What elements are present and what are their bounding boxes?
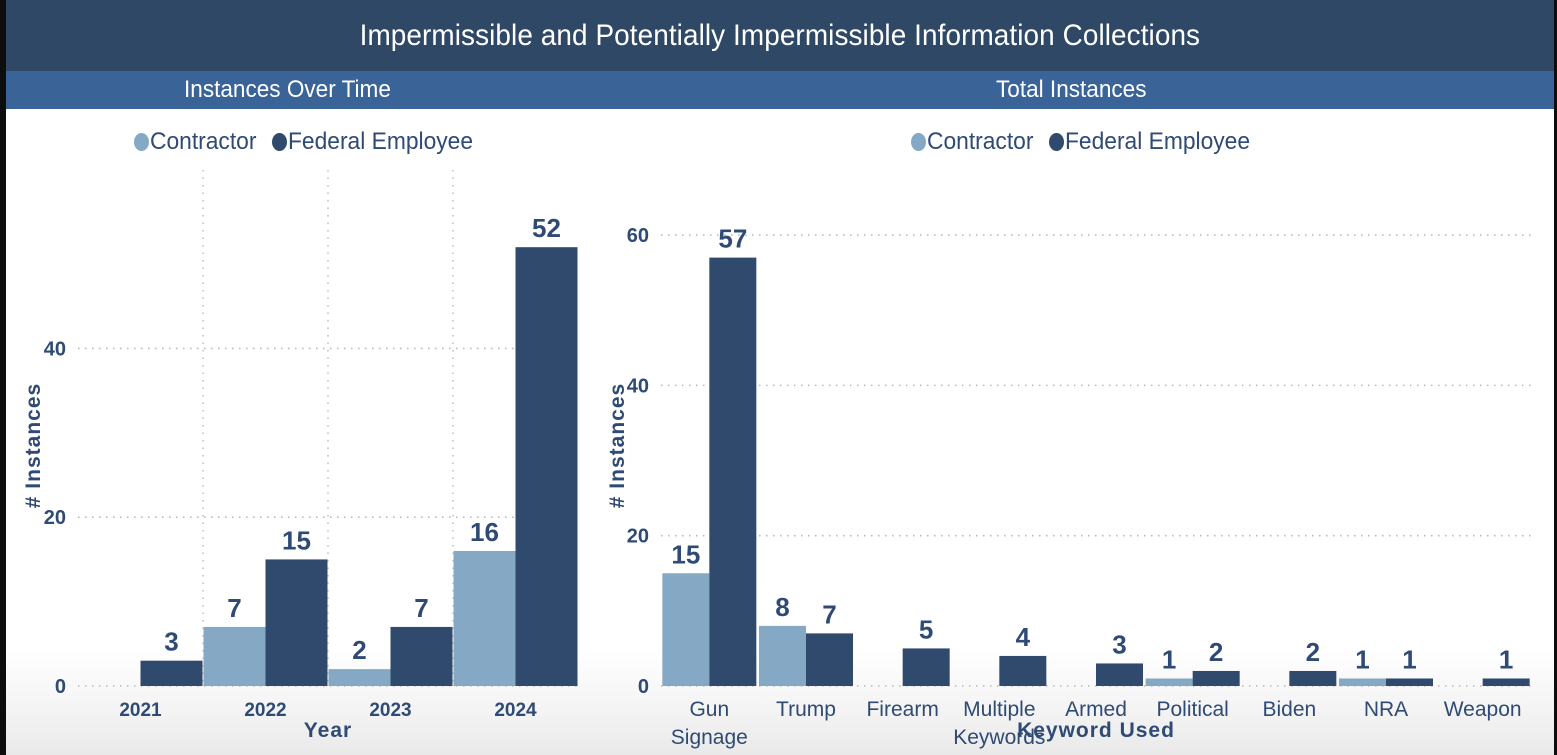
bar-value-label: 2 bbox=[1306, 637, 1320, 667]
bar-value-label: 1 bbox=[1355, 644, 1369, 674]
bar-value-label: 1 bbox=[1499, 644, 1513, 674]
y-axis-tick-label: 60 bbox=[627, 225, 649, 247]
bar-value-label: 3 bbox=[164, 627, 178, 657]
x-axis-category-label: Political bbox=[1156, 698, 1228, 721]
y-axis-tick-label: 20 bbox=[44, 507, 66, 529]
bar-value-label: 52 bbox=[532, 213, 561, 243]
x-axis-category-label: 2021 bbox=[119, 700, 162, 721]
bar-federal-employee[interactable] bbox=[1386, 678, 1433, 686]
bar-federal-employee[interactable] bbox=[141, 661, 203, 686]
legend-item-federal-employee[interactable]: Federal Employee bbox=[272, 128, 483, 156]
bar-federal-employee[interactable] bbox=[999, 656, 1046, 686]
bar-federal-employee[interactable] bbox=[391, 627, 453, 686]
bar-federal-employee[interactable] bbox=[903, 648, 950, 686]
dashboard-root: Impermissible and Potentially Impermissi… bbox=[0, 0, 1557, 755]
bar-value-label: 16 bbox=[470, 517, 499, 547]
bar-contractor[interactable] bbox=[454, 551, 516, 686]
x-axis-category-label: 2022 bbox=[244, 700, 286, 721]
bar-value-label: 3 bbox=[1112, 629, 1126, 659]
bar-value-label: 7 bbox=[227, 593, 241, 623]
x-axis-category-label: Signage bbox=[671, 726, 748, 749]
y-axis-tick-label: 40 bbox=[44, 338, 66, 360]
bar-federal-employee[interactable] bbox=[516, 247, 578, 686]
bar-federal-employee[interactable] bbox=[1483, 678, 1530, 686]
bar-value-label: 1 bbox=[1162, 644, 1176, 674]
x-axis-category-label: NRA bbox=[1364, 698, 1408, 721]
dashboard-title: Impermissible and Potentially Impermissi… bbox=[360, 19, 1200, 53]
x-axis-category-label: Gun bbox=[689, 698, 729, 721]
bar-federal-employee[interactable] bbox=[1289, 671, 1336, 686]
x-axis-category-label: 2024 bbox=[494, 700, 537, 721]
x-axis-category-label: Multiple bbox=[963, 698, 1035, 721]
x-axis-title: Keyword Used bbox=[1017, 719, 1175, 742]
bar-contractor[interactable] bbox=[329, 669, 391, 686]
legend-item-contractor[interactable]: Contractor bbox=[911, 128, 1039, 156]
legend-marker-contractor-icon bbox=[911, 133, 926, 151]
bar-contractor[interactable] bbox=[204, 627, 266, 686]
legend-item-contractor[interactable]: Contractor bbox=[134, 128, 262, 156]
bar-contractor[interactable] bbox=[1146, 678, 1193, 686]
bar-federal-employee[interactable] bbox=[1096, 663, 1143, 686]
dashboard-title-bar: Impermissible and Potentially Impermissi… bbox=[6, 0, 1554, 71]
legend-label-federal-employee: Federal Employee bbox=[1065, 128, 1250, 156]
bar-value-label: 57 bbox=[718, 224, 747, 254]
x-axis-category-label: Trump bbox=[776, 698, 836, 721]
y-axis-tick-label: 40 bbox=[627, 375, 649, 397]
x-axis-title: Year bbox=[304, 719, 352, 742]
x-axis-category-label: Weapon bbox=[1444, 698, 1522, 721]
y-axis-title: # Instances bbox=[22, 383, 45, 508]
chart-panel-instances-over-time: Contractor Federal Employee 020403202171… bbox=[6, 109, 606, 755]
legend-label-federal-employee: Federal Employee bbox=[288, 128, 473, 156]
bar-value-label: 2 bbox=[1209, 637, 1223, 667]
y-axis-tick-label: 0 bbox=[638, 676, 649, 698]
bar-federal-employee[interactable] bbox=[709, 258, 756, 686]
legend-instances-over-time: Contractor Federal Employee bbox=[134, 125, 483, 159]
section-title-total-instances: Total Instances bbox=[996, 71, 1146, 109]
bar-contractor[interactable] bbox=[1339, 678, 1386, 686]
bar-contractor[interactable] bbox=[759, 626, 806, 686]
bar-value-label: 7 bbox=[414, 593, 428, 623]
y-axis-tick-label: 20 bbox=[627, 526, 649, 548]
bar-value-label: 4 bbox=[1016, 622, 1031, 652]
chart-panel-total-instances: Contractor Federal Employee 02040601557G… bbox=[606, 109, 1557, 755]
x-axis-category-label: Firearm bbox=[866, 698, 938, 721]
bar-federal-employee[interactable] bbox=[806, 633, 853, 686]
bar-federal-employee[interactable] bbox=[1193, 671, 1240, 686]
y-axis-tick-label: 0 bbox=[55, 676, 66, 698]
section-header-bar: Instances Over Time Total Instances bbox=[6, 71, 1554, 109]
legend-item-federal-employee[interactable]: Federal Employee bbox=[1049, 128, 1260, 156]
bar-value-label: 15 bbox=[671, 539, 700, 569]
x-axis-category-label: 2023 bbox=[369, 700, 411, 721]
legend-label-contractor: Contractor bbox=[927, 128, 1033, 156]
legend-marker-contractor-icon bbox=[134, 133, 149, 151]
bar-value-label: 7 bbox=[822, 599, 836, 629]
bar-value-label: 15 bbox=[282, 525, 311, 555]
legend-label-contractor: Contractor bbox=[150, 128, 256, 156]
x-axis-category-label: Armed bbox=[1065, 698, 1127, 721]
section-title-instances-over-time: Instances Over Time bbox=[184, 71, 391, 109]
chart-svg-instances-over-time[interactable]: 0204032021715202227202316522024# Instanc… bbox=[6, 109, 606, 755]
legend-marker-federal-employee-icon bbox=[272, 133, 287, 151]
bar-value-label: 1 bbox=[1402, 644, 1416, 674]
legend-marker-federal-employee-icon bbox=[1049, 133, 1064, 151]
bar-contractor[interactable] bbox=[662, 573, 709, 686]
bar-federal-employee[interactable] bbox=[266, 559, 328, 686]
bar-value-label: 5 bbox=[919, 614, 933, 644]
legend-total-instances: Contractor Federal Employee bbox=[911, 125, 1260, 159]
y-axis-title: # Instances bbox=[606, 383, 629, 508]
x-axis-category-label: Biden bbox=[1262, 698, 1316, 721]
bar-value-label: 8 bbox=[775, 592, 789, 622]
bar-value-label: 2 bbox=[352, 635, 366, 665]
chart-svg-total-instances[interactable]: 02040601557GunSignage87Trump5Firearm4Mul… bbox=[606, 109, 1557, 755]
